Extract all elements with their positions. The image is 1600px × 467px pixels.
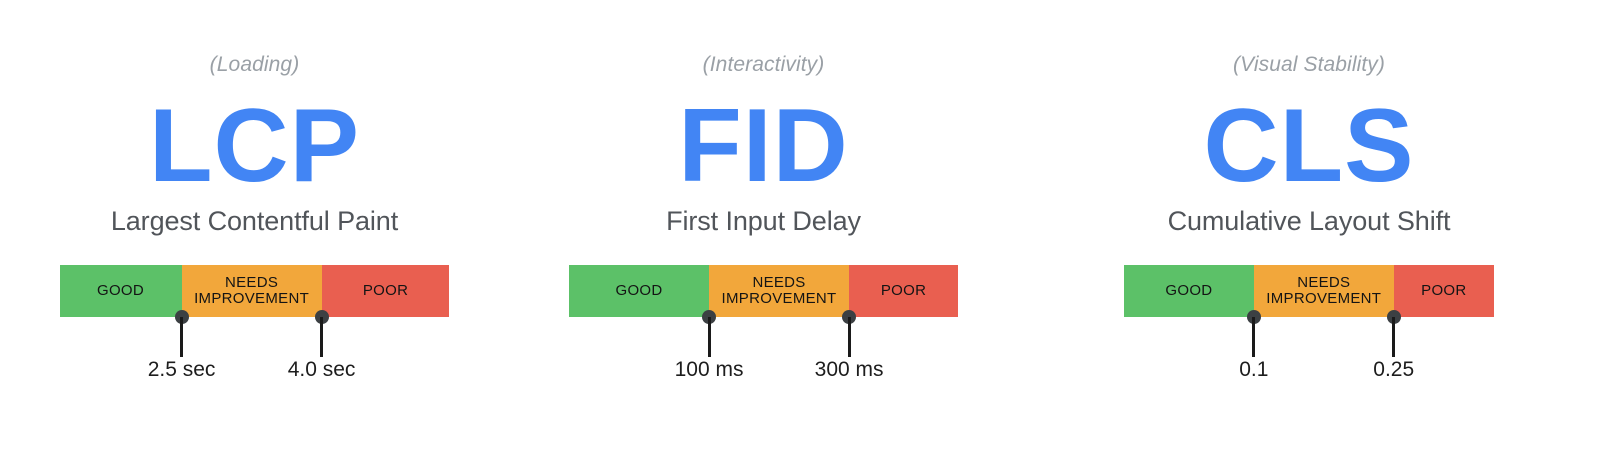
metric-fullname: First Input Delay	[666, 207, 861, 237]
threshold-value-label: 0.25	[1373, 359, 1414, 380]
marker-stem-icon	[848, 317, 851, 357]
bar-segment-poor: POOR	[322, 265, 450, 317]
metric-fullname: Largest Contentful Paint	[111, 207, 398, 237]
threshold-bar: GOOD NEEDS IMPROVEMENT POOR	[60, 265, 450, 317]
threshold-value-label: 0.1	[1239, 359, 1268, 380]
bar-segment-poor: POOR	[1394, 265, 1494, 317]
bar-segment-label: POOR	[363, 283, 408, 299]
bar-segment-label: GOOD	[1165, 283, 1212, 299]
metric-acronym: CLS	[1204, 93, 1415, 199]
bar-segment-needs-improvement: NEEDS IMPROVEMENT	[1254, 265, 1394, 317]
bar-segment-label: GOOD	[97, 283, 144, 299]
metric-category-label: (Interactivity)	[703, 54, 825, 75]
threshold-bar-block: GOOD NEEDS IMPROVEMENT POOR 0.1	[1124, 265, 1494, 415]
threshold-value-label: 2.5 sec	[148, 359, 216, 380]
bar-segment-good: GOOD	[569, 265, 709, 317]
threshold-bar: GOOD NEEDS IMPROVEMENT POOR	[1124, 265, 1494, 317]
metric-category-label: (Visual Stability)	[1233, 54, 1385, 75]
bar-segment-poor: POOR	[849, 265, 958, 317]
core-web-vitals-infographic: (Loading) LCP Largest Contentful Paint G…	[0, 0, 1600, 467]
bar-segment-label: NEEDS IMPROVEMENT	[1266, 275, 1381, 307]
marker-stem-icon	[1392, 317, 1395, 357]
bar-segment-needs-improvement: NEEDS IMPROVEMENT	[709, 265, 849, 317]
bar-segment-label: NEEDS IMPROVEMENT	[194, 275, 309, 307]
threshold-bar-block: GOOD NEEDS IMPROVEMENT POOR 2.5 sec	[60, 265, 450, 415]
marker-stem-icon	[180, 317, 183, 357]
bar-segment-label: GOOD	[615, 283, 662, 299]
bar-segment-good: GOOD	[1124, 265, 1254, 317]
bar-segment-label: POOR	[1421, 283, 1466, 299]
bar-segment-good: GOOD	[60, 265, 182, 317]
metrics-row: (Loading) LCP Largest Contentful Paint G…	[0, 0, 1600, 467]
bar-segment-needs-improvement: NEEDS IMPROVEMENT	[182, 265, 322, 317]
metric-acronym: LCP	[149, 93, 360, 199]
marker-stem-icon	[1252, 317, 1255, 357]
metric-fullname: Cumulative Layout Shift	[1168, 207, 1451, 237]
threshold-bar-block: GOOD NEEDS IMPROVEMENT POOR 100 ms	[569, 265, 958, 415]
bar-segment-label: POOR	[881, 283, 926, 299]
threshold-value-label: 300 ms	[815, 359, 884, 380]
bar-segment-label: NEEDS IMPROVEMENT	[722, 275, 837, 307]
threshold-bar: GOOD NEEDS IMPROVEMENT POOR	[569, 265, 958, 317]
metric-card-fid: (Interactivity) FID First Input Delay GO…	[509, 0, 1018, 467]
threshold-value-label: 100 ms	[675, 359, 744, 380]
metric-category-label: (Loading)	[210, 54, 300, 75]
marker-stem-icon	[708, 317, 711, 357]
marker-stem-icon	[320, 317, 323, 357]
metric-acronym: FID	[678, 93, 849, 199]
metric-card-lcp: (Loading) LCP Largest Contentful Paint G…	[0, 0, 509, 467]
threshold-value-label: 4.0 sec	[288, 359, 356, 380]
metric-card-cls: (Visual Stability) CLS Cumulative Layout…	[1018, 0, 1600, 467]
